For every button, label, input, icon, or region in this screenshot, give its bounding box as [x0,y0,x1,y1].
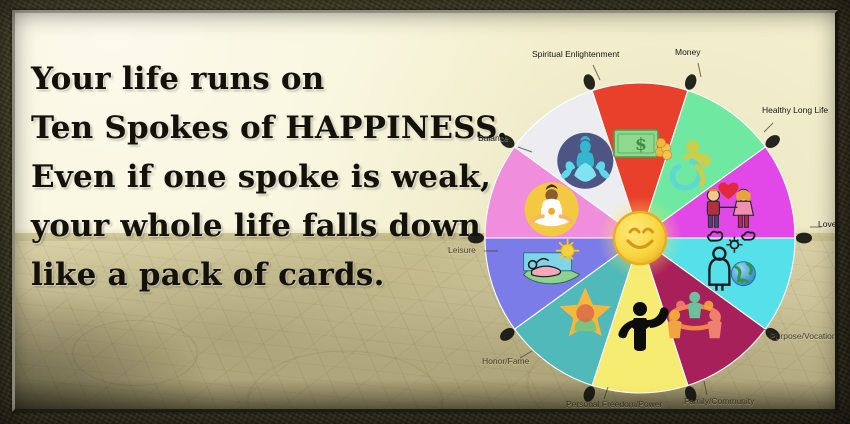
spoke-label-honor-fame: Honor/Fame [482,356,529,366]
poster-frame: Your life runs on Ten Spokes of HAPPINES… [0,0,850,424]
spoke-label-money: Money [675,47,701,57]
wheel-graphic: $ [470,51,810,406]
quote-line-5: like a pack of cards. [31,251,491,300]
quote-line-3: Even if one spoke is weak, [31,153,491,202]
spoke-label-family-community: Family/Community [684,396,754,406]
quote-line-4: your whole life falls down [31,202,491,251]
spoke-label-healthy-long-life: Healthy Long Life [762,105,828,115]
smiley-face-icon [614,212,666,264]
wheel-peg [683,73,698,92]
headline-quote: Your life runs on Ten Spokes of HAPPINES… [31,55,491,300]
poster-plate: Your life runs on Ten Spokes of HAPPINES… [15,13,835,409]
spoke-label-personal-freedom-power: Personal Freedom/Power [566,399,662,409]
spoke-label-balance: Balance [478,133,509,143]
svg-text:$: $ [635,135,647,155]
wheel-peg [796,233,812,244]
happiness-wheel: $ [470,51,810,406]
wheel-peg [582,73,597,92]
spoke-label-purpose-vocation: Purpose/Vocation [770,331,835,341]
spoke-label-spiritual-enlightenment: Spiritual Enlightenment [532,49,619,59]
quote-line-2: Ten Spokes of HAPPINESS. [31,104,491,153]
poster-bevel: Your life runs on Ten Spokes of HAPPINES… [12,10,838,412]
meditation-yoga-icon [525,182,579,236]
lotus-buddha-icon [557,133,613,189]
spoke-label-love: Love [818,219,835,229]
quote-line-1: Your life runs on [31,55,491,104]
wheel-peg [468,233,484,244]
spoke-label-leisure: Leisure [448,245,476,255]
